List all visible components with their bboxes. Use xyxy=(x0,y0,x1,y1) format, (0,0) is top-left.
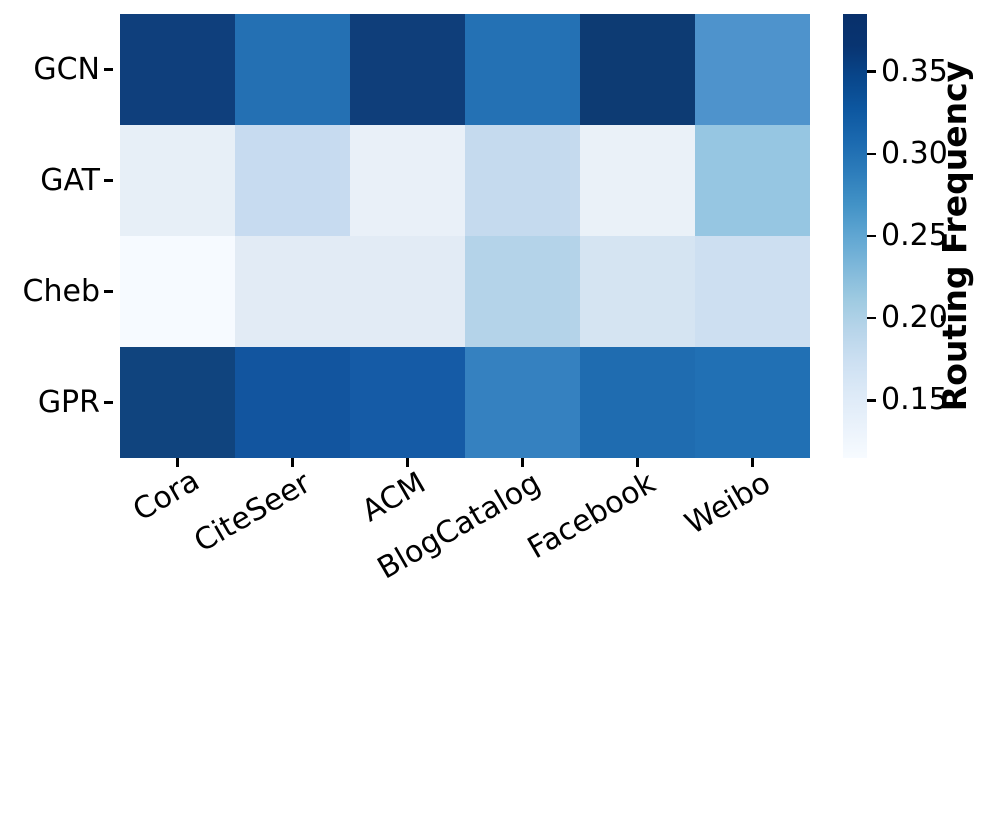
y-tick-mark-icon xyxy=(104,290,113,292)
heatmap-cell xyxy=(120,236,235,347)
heatmap-cell xyxy=(120,347,235,458)
x-tick-mark-icon xyxy=(291,458,293,467)
heatmap-cell xyxy=(695,236,810,347)
y-tick-mark-icon xyxy=(104,179,113,181)
x-tick-label: Cora xyxy=(129,468,201,527)
heatmap-cell xyxy=(350,236,465,347)
y-tick-cheb: Cheb xyxy=(0,236,112,347)
x-tick-mark-cell xyxy=(235,458,350,468)
heatmap-cell xyxy=(580,14,695,125)
heatmap-cell xyxy=(120,14,235,125)
colorbar-tick-mark-icon xyxy=(867,70,876,72)
y-tick-gcn: GCN xyxy=(0,14,112,125)
y-tick-label: GAT xyxy=(40,166,104,196)
colorbar xyxy=(843,14,867,458)
x-tick-mark-cell xyxy=(120,458,235,468)
colorbar-gradient xyxy=(843,14,867,458)
colorbar-tick-mark-icon xyxy=(867,399,876,401)
x-tick-mark-icon xyxy=(406,458,408,467)
x-tick-mark-icon xyxy=(176,458,178,467)
x-tick-mark-icon xyxy=(751,458,753,467)
heatmap-cell xyxy=(580,236,695,347)
y-tick-mark-icon xyxy=(104,401,113,403)
heatmap-cell-grid xyxy=(120,14,810,458)
heatmap-cell xyxy=(235,347,350,458)
y-tick-gat: GAT xyxy=(0,125,112,236)
x-tick-mark-cell xyxy=(580,458,695,468)
x-tick-mark-cell xyxy=(350,458,465,468)
x-axis-tick-marks xyxy=(120,458,810,468)
y-tick-label: GPR xyxy=(38,388,104,418)
colorbar-label-text: Routing Frequency xyxy=(938,61,971,411)
heatmap-cell xyxy=(695,14,810,125)
heatmap-cell xyxy=(350,14,465,125)
x-tick-mark-cell xyxy=(465,458,580,468)
colorbar-tick-mark-icon xyxy=(867,153,876,155)
y-axis: GCN GAT Cheb GPR xyxy=(0,14,112,458)
y-tick-label: Cheb xyxy=(23,277,104,307)
heatmap-cell xyxy=(235,14,350,125)
colorbar-label: Routing Frequency xyxy=(930,14,978,458)
heatmap-cell xyxy=(580,125,695,236)
heatmap-cell xyxy=(350,347,465,458)
heatmap-cell xyxy=(465,236,580,347)
x-tick-mark-cell xyxy=(695,458,810,468)
heatmap-cell xyxy=(235,125,350,236)
colorbar-tick-mark-icon xyxy=(867,317,876,319)
y-tick-gpr: GPR xyxy=(0,347,112,458)
heatmap-cell xyxy=(350,125,465,236)
heatmap-cell xyxy=(465,14,580,125)
x-tick-mark-icon xyxy=(521,458,523,467)
heatmap-cell xyxy=(465,347,580,458)
y-tick-label: GCN xyxy=(33,55,104,85)
colorbar-tick-mark-icon xyxy=(867,235,876,237)
x-axis-labels: CoraCiteSeerACMBlogCatalogFacebookWeibo xyxy=(120,468,810,627)
heatmap-cell xyxy=(465,125,580,236)
y-tick-mark-icon xyxy=(104,68,113,70)
heatmap-cell xyxy=(120,125,235,236)
heatmap-figure: GCN GAT Cheb GPR CoraCiteSeerACMBlogCata… xyxy=(0,0,996,627)
x-tick-mark-icon xyxy=(636,458,638,467)
heatmap-cell xyxy=(580,347,695,458)
heatmap-cell xyxy=(695,125,810,236)
heatmap-cell xyxy=(695,347,810,458)
heatmap-plot-area xyxy=(120,14,810,458)
heatmap-cell xyxy=(235,236,350,347)
